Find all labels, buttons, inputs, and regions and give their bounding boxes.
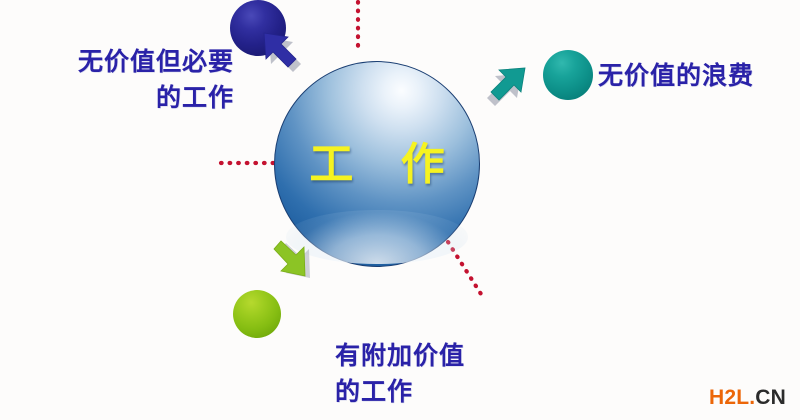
watermark-secondary: CN — [755, 386, 786, 409]
arrow-up-left-icon[interactable] — [262, 31, 314, 83]
diagram-canvas: 工 作 无价值但必要 的工作 无价值的浪费 — [0, 0, 800, 420]
teal-ball[interactable] — [543, 50, 593, 100]
label-non-value-waste: 无价值的浪费 — [598, 58, 754, 94]
label-value-added-work: 有附加价值 的工作 — [335, 338, 465, 409]
green-ball-face — [233, 290, 281, 338]
center-node-work[interactable]: 工 作 — [274, 61, 480, 267]
green-ball[interactable] — [233, 290, 281, 338]
arrow-up-right-icon[interactable] — [489, 66, 541, 118]
teal-ball-face — [543, 50, 593, 100]
watermark: H2L.CN — [709, 386, 786, 410]
label-non-value-but-necessary: 无价值但必要 的工作 — [8, 44, 234, 115]
arrow-down-left-icon[interactable] — [272, 243, 324, 295]
connector-top-dotted-line — [348, 0, 368, 56]
center-node-label: 工 作 — [274, 61, 480, 267]
watermark-primary: H2L. — [709, 386, 755, 409]
connector-left-dotted-line — [218, 155, 282, 171]
